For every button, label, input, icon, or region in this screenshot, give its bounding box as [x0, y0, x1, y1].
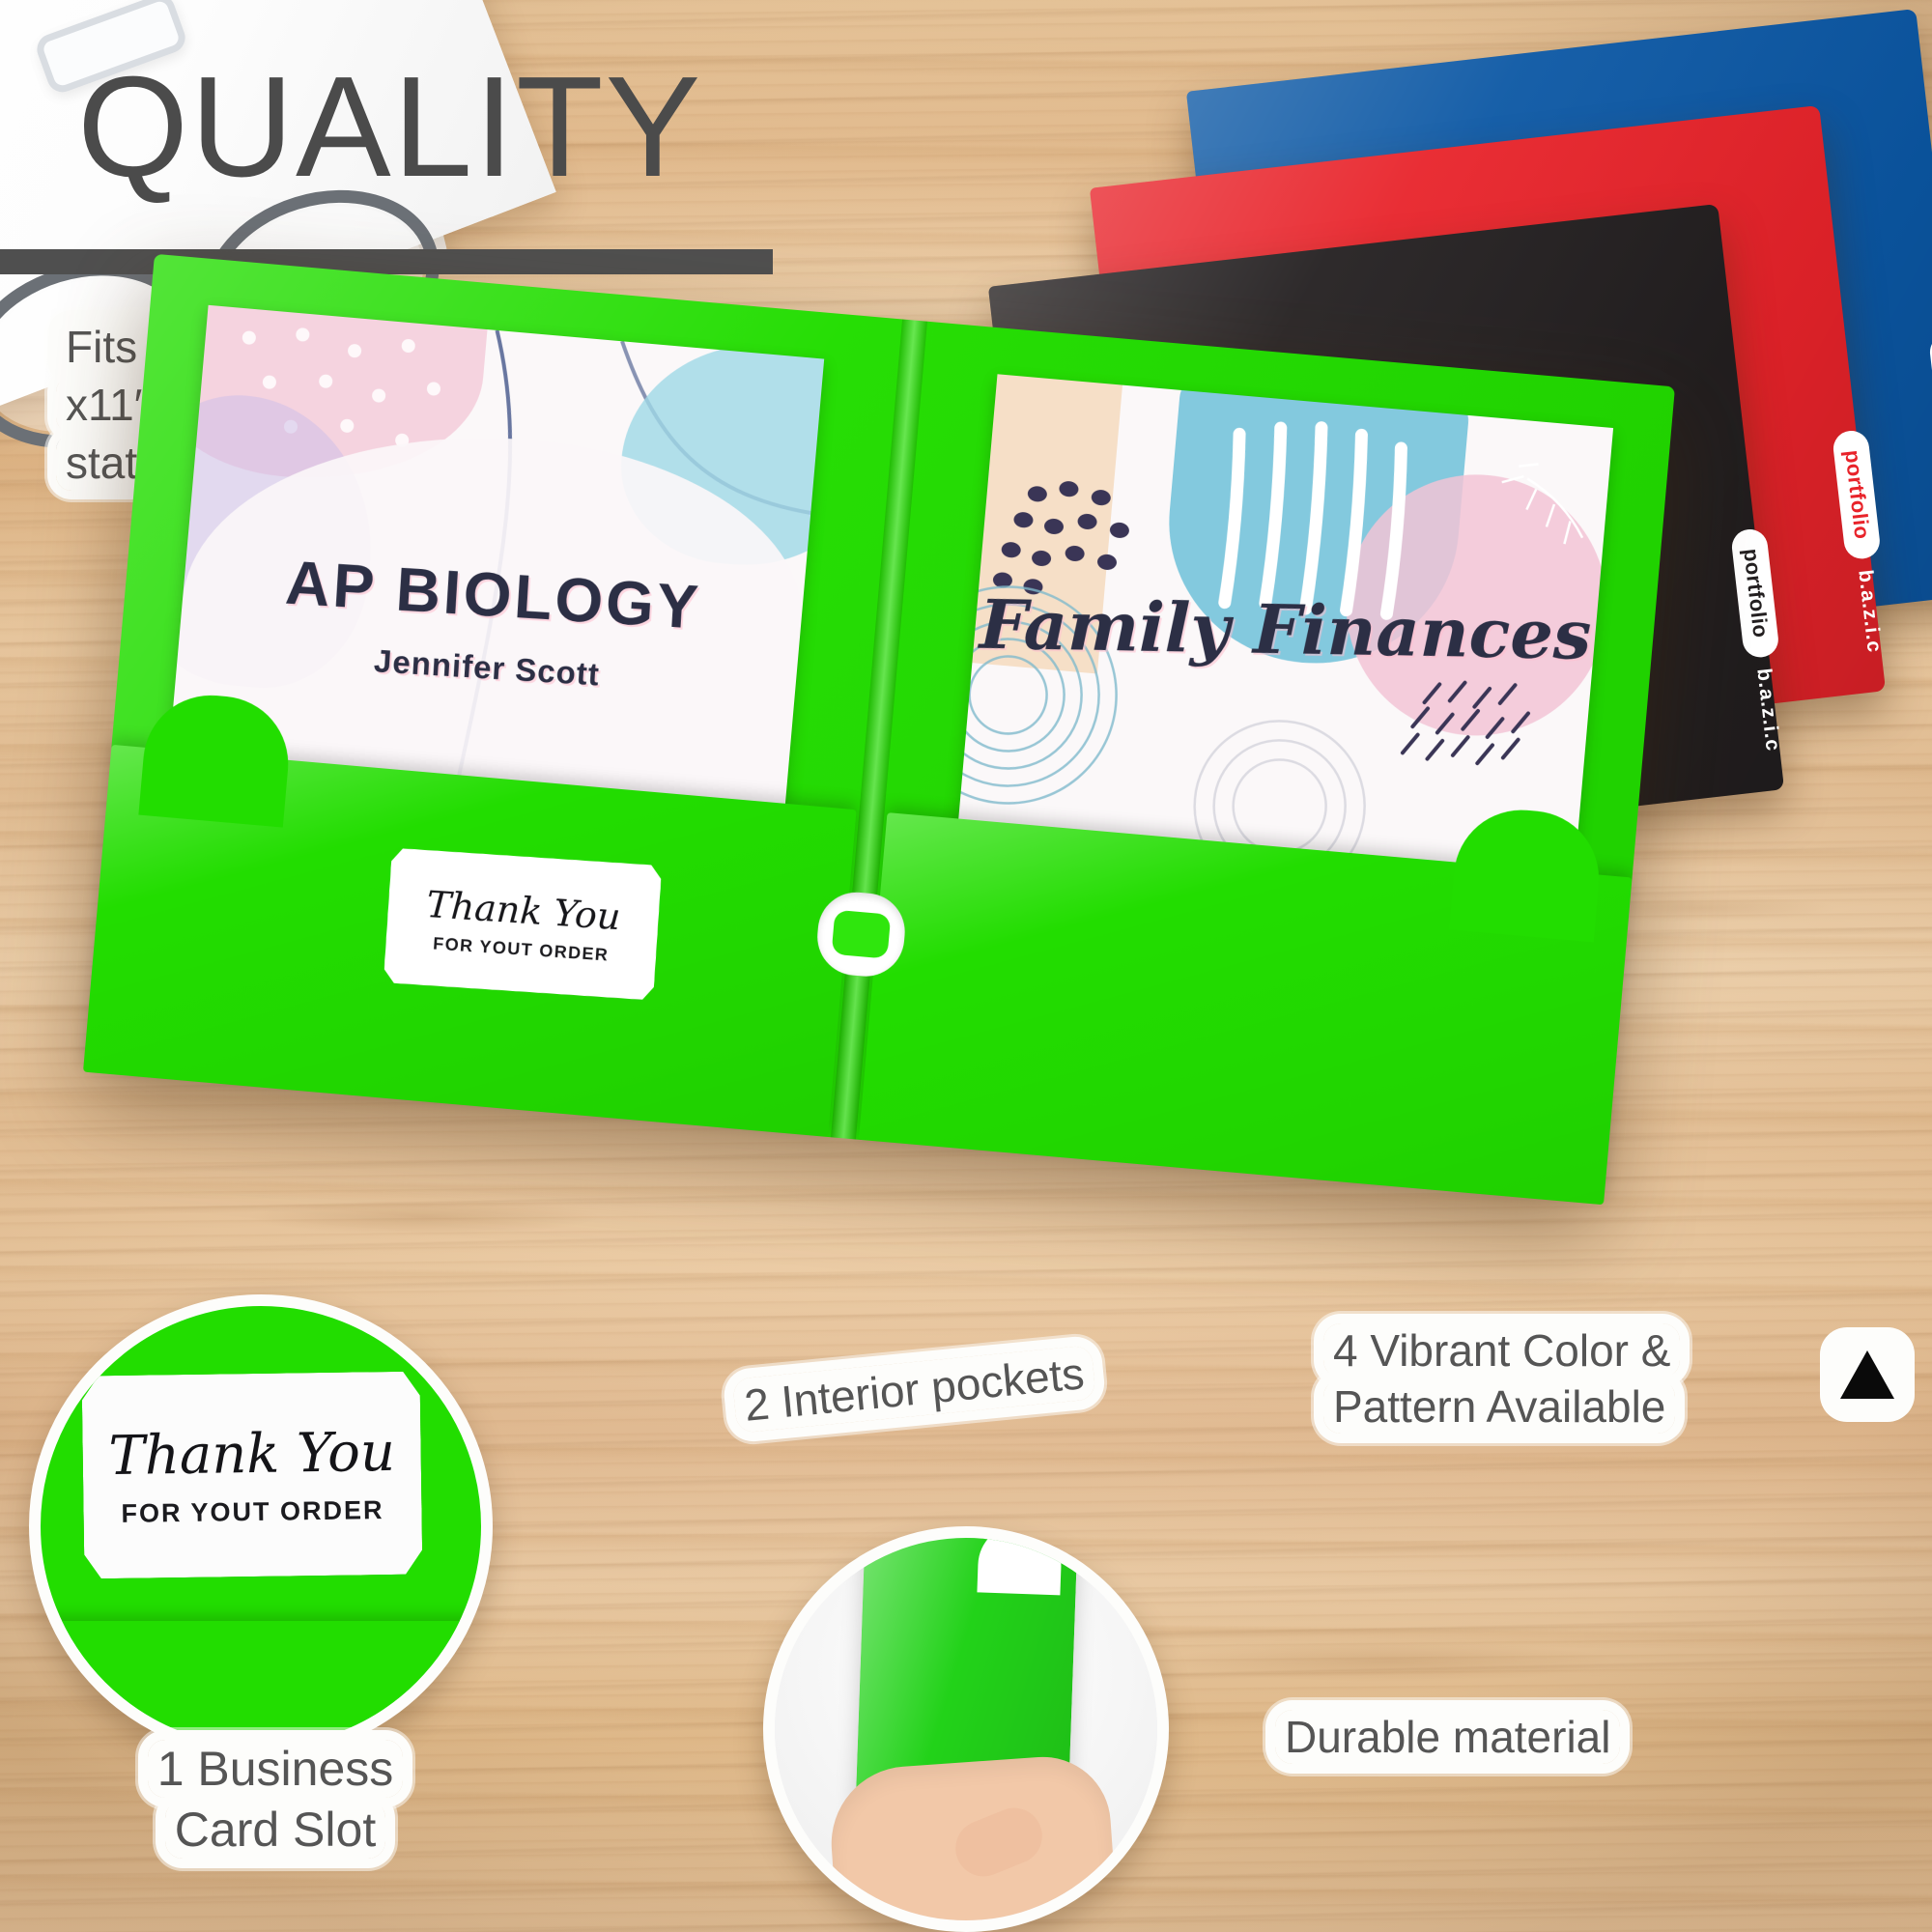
caption-durable-text: Durable material — [1275, 1710, 1620, 1764]
caption-colors-line1: 4 Vibrant Color & — [1323, 1323, 1680, 1378]
caption-colors-line2: Pattern Available — [1323, 1379, 1675, 1434]
triangle-icon — [1840, 1350, 1894, 1399]
zoomed-business-card: Thank You FOR YOUT ORDER — [82, 1372, 423, 1579]
zoom-card-subtext: FOR YOUT ORDER — [121, 1495, 384, 1529]
infographic-stage: portfolio b.a.z.i.c portfolio b.a.z.i.c … — [0, 0, 1932, 1932]
triangle-icon-badge — [1826, 1333, 1909, 1416]
right-insert-page: Family Finances — [958, 374, 1614, 880]
right-page-title: Family Finances — [976, 584, 1595, 675]
brand-name: b.a.z.i.c — [1853, 569, 1886, 655]
business-card-slot-callout: Thank You FOR YOUT ORDER — [29, 1294, 493, 1758]
open-green-folder[interactable]: AP BIOLOGY Jennifer Scott — [83, 254, 1675, 1205]
zoom-pocket-edge — [41, 1621, 481, 1747]
caption-business-line2: Card Slot — [165, 1801, 385, 1859]
caption-business-line1: 1 Business — [148, 1740, 404, 1798]
caption-durable-material: Durable material — [1275, 1710, 1620, 1766]
title-underline-bar — [0, 249, 773, 274]
zoom-card-thankyou: Thank You — [108, 1421, 395, 1488]
business-card-subtext: FOR YOUT ORDER — [433, 933, 610, 965]
business-card-thankyou: Thank You — [425, 883, 622, 938]
page-title: QUALITY — [77, 56, 702, 199]
caption-business-card-slot: 1 Business Card Slot — [116, 1739, 435, 1861]
right-interior-pocket[interactable] — [859, 812, 1633, 1205]
caption-vibrant-colors: 4 Vibrant Color & Pattern Available — [1323, 1323, 1787, 1435]
brand-name: b.a.z.i.c — [1751, 668, 1784, 753]
durable-material-callout — [763, 1526, 1169, 1932]
business-card: Thank You FOR YOUT ORDER — [384, 847, 663, 1000]
